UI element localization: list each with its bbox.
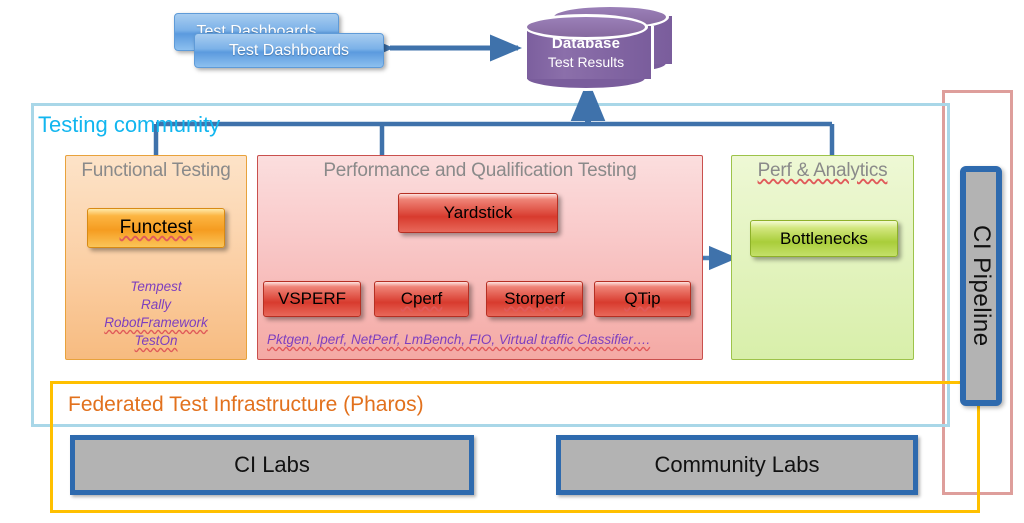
yardstick-label: Yardstick xyxy=(444,203,513,223)
diagram-canvas: Test Dashboards Test Dashboards Database… xyxy=(0,0,1024,523)
test-dashboards-front[interactable]: Test Dashboards xyxy=(194,33,384,68)
panel-title: Functional Testing xyxy=(66,156,246,182)
panel-perf-and-analytics[interactable]: Perf & Analytics xyxy=(731,155,914,360)
bottlenecks-label: Bottlenecks xyxy=(780,229,868,249)
storperf-button[interactable]: Storperf xyxy=(486,281,583,317)
functest-label: Functest xyxy=(120,217,193,239)
database-label: Database Test Results xyxy=(524,14,648,91)
community-labs-box[interactable]: Community Labs xyxy=(556,435,918,495)
database-subtitle: Test Results xyxy=(548,54,624,70)
vsperf-button[interactable]: VSPERF xyxy=(263,281,361,317)
panel-performance-qualification-testing[interactable]: Performance and Qualification Testing xyxy=(257,155,703,360)
cperf-label: Cperf xyxy=(401,289,443,309)
vsperf-label: VSPERF xyxy=(278,289,346,309)
cperf-button[interactable]: Cperf xyxy=(374,281,469,317)
ci-labs-box[interactable]: CI Labs xyxy=(70,435,474,495)
yardstick-button[interactable]: Yardstick xyxy=(398,193,558,233)
testing-community-label: Testing community xyxy=(38,112,220,138)
database-title: Database xyxy=(552,35,620,52)
tool-rally: Rally xyxy=(66,296,246,314)
database-cylinder-front[interactable]: Database Test Results xyxy=(524,14,648,91)
panel-title: Perf & Analytics xyxy=(732,156,913,182)
ci-pipeline-box[interactable]: CI Pipeline xyxy=(960,166,1002,406)
functional-tools-list: Tempest Rally RobotFramework TestOn xyxy=(66,278,246,350)
functest-button[interactable]: Functest xyxy=(87,208,225,248)
performance-tools-line: Pktgen, Iperf, NetPerf, LmBench, FIO, Vi… xyxy=(267,332,697,347)
bottlenecks-button[interactable]: Bottlenecks xyxy=(750,220,898,257)
pharos-label: Federated Test Infrastructure (Pharos) xyxy=(68,393,424,417)
ci-labs-label: CI Labs xyxy=(234,452,310,478)
ci-pipeline-label: CI Pipeline xyxy=(967,225,995,347)
qtip-label: QTip xyxy=(624,289,660,309)
tool-teston: TestOn xyxy=(66,332,246,350)
panel-title: Performance and Qualification Testing xyxy=(258,156,702,182)
tool-tempest: Tempest xyxy=(66,278,246,296)
test-dashboards-front-label: Test Dashboards xyxy=(229,42,349,60)
tool-robotframework: RobotFramework xyxy=(66,314,246,332)
community-labs-label: Community Labs xyxy=(654,452,819,478)
storperf-label: Storperf xyxy=(504,289,564,309)
qtip-button[interactable]: QTip xyxy=(594,281,691,317)
